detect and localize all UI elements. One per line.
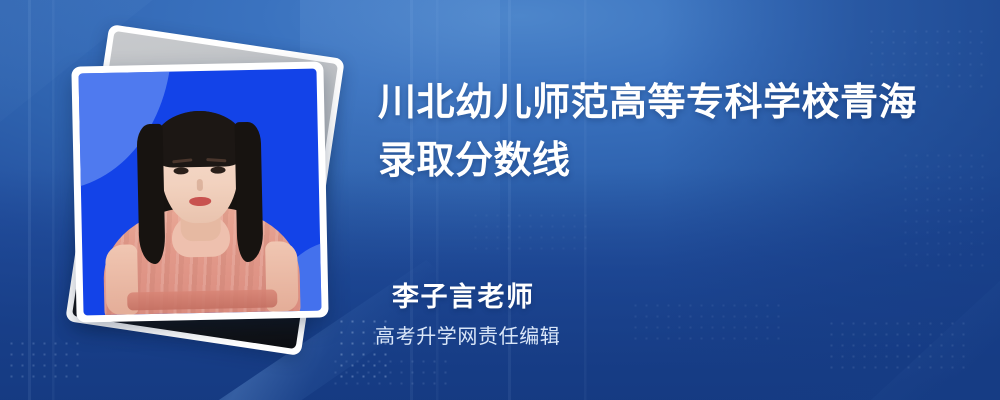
author-photo-stack: [52, 36, 352, 356]
page-title: 川北幼儿师范高等专科学校青海录取分数线: [378, 74, 948, 190]
portrait-hair-front: [152, 110, 245, 168]
portrait-figure: [78, 69, 321, 316]
portrait-hair-strand-left: [137, 124, 166, 265]
portrait-nose: [197, 179, 203, 191]
banner-text-block: 川北幼儿师范高等专科学校青海录取分数线 李子言老师 高考升学网责任编辑: [375, 0, 975, 400]
portrait-hair-strand-right: [235, 122, 264, 263]
article-header-banner: 川北幼儿师范高等专科学校青海录取分数线 李子言老师 高考升学网责任编辑: [0, 0, 1000, 400]
portrait-photo-card: [71, 61, 328, 322]
portrait-dress-waistband: [127, 289, 277, 310]
author-role: 高考升学网责任编辑: [375, 320, 560, 349]
author-name: 李子言老师: [392, 275, 535, 314]
author-portrait-photo: [78, 69, 321, 316]
